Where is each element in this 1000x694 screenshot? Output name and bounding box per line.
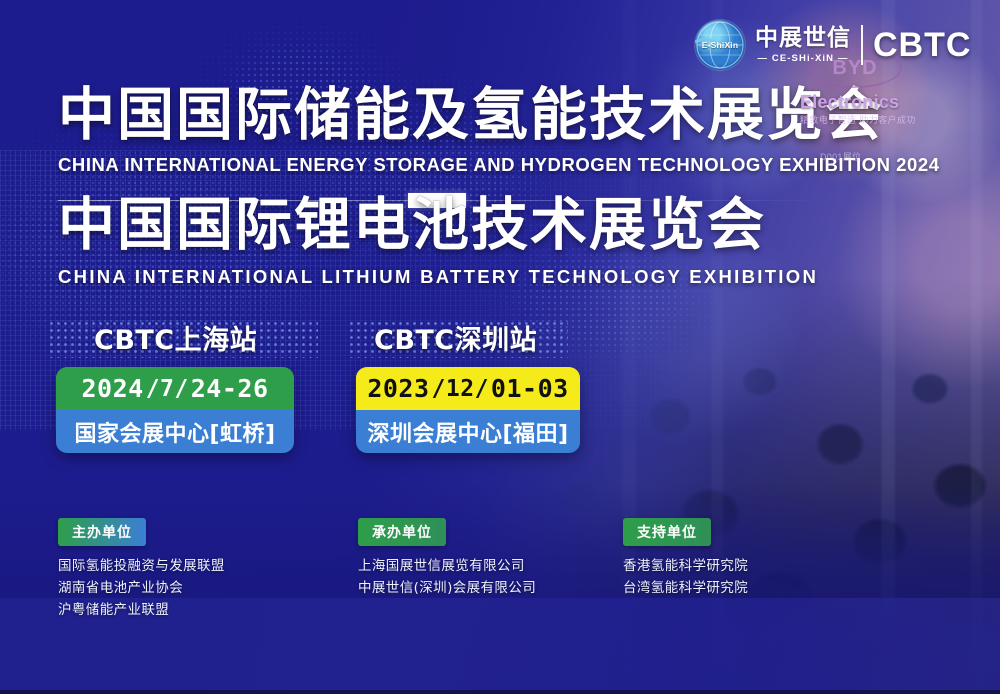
event-month-shenzhen: /12/ xyxy=(430,376,491,402)
event-venue-shenzhen: 深圳会展中心[福田] xyxy=(356,410,580,453)
organization-item: 国际氢能投融资与发展联盟 xyxy=(58,556,358,578)
electronics-tagline-watermark: 精致电子智造 助力客户成功 xyxy=(800,113,916,126)
secondary-title-cn: 中国国际锂电池技术展览会 xyxy=(58,196,818,255)
event-days-shenzhen: 01-03 xyxy=(491,374,569,403)
brand-chinese-name: 中展世信 xyxy=(755,27,851,50)
event-card-shenzhen: CBTC深圳站 2023 /12/ 01-03 深圳会展中心[福田] xyxy=(356,322,580,453)
organization-blocks: 主办单位 国际氢能投融资与发展联盟 湖南省电池产业协会 沪粤储能产业联盟 承办单… xyxy=(58,518,883,622)
organization-badge-supporter: 支持单位 xyxy=(623,518,711,546)
event-year-shanghai: 2024 xyxy=(81,374,143,403)
event-card-heading-shenzhen: CBTC深圳站 xyxy=(356,322,580,360)
e-shixin-globe-icon: E-ShiXin xyxy=(695,20,745,70)
primary-title-en: CHINA INTERNATIONAL ENERGY STORAGE AND H… xyxy=(58,154,940,176)
brand-pinyin: — CE-SHi-XiN — xyxy=(758,54,849,64)
event-card-body-shenzhen: 2023 /12/ 01-03 深圳会展中心[福田] xyxy=(356,367,580,453)
exhibition-banner: BYD Electronics 精致电子智造 助力客户成功 D001展位 E-S… xyxy=(0,0,1000,694)
organization-badge-host: 主办单位 xyxy=(58,518,146,546)
event-card-shanghai: CBTC上海站 2024 /7/ 24-26 国家会展中心[虹桥] xyxy=(56,322,294,453)
header-logo-bar: E-ShiXin 中展世信 — CE-SHi-XiN — CBTC xyxy=(695,20,971,70)
organization-block-supporter: 支持单位 香港氢能科学研究院 台湾氢能科学研究院 xyxy=(623,518,883,622)
event-year-shenzhen: 2023 xyxy=(367,374,429,403)
secondary-title-block: 中国国际锂电池技术展览会 CHINA INTERNATIONAL LITHIUM… xyxy=(58,196,818,288)
organization-item: 中展世信(深圳)会展有限公司 xyxy=(358,578,623,600)
globe-logo-text: E-ShiXin xyxy=(695,40,745,50)
organization-item: 湖南省电池产业协会 xyxy=(58,578,358,600)
organization-block-organizer: 承办单位 上海国展世信展览有限公司 中展世信(深圳)会展有限公司 xyxy=(358,518,623,622)
event-venue-shanghai: 国家会展中心[虹桥] xyxy=(56,410,294,453)
ce-shi-xin-logo: 中展世信 — CE-SHi-XiN — xyxy=(755,27,851,64)
organization-item: 上海国展世信展览有限公司 xyxy=(358,556,623,578)
event-days-shanghai: 24-26 xyxy=(191,374,269,403)
organization-badge-organizer: 承办单位 xyxy=(358,518,446,546)
event-date-shenzhen: 2023 /12/ 01-03 xyxy=(356,367,580,410)
logo-divider xyxy=(861,25,863,65)
organization-item: 沪粤储能产业联盟 xyxy=(58,600,358,622)
organization-list-organizer: 上海国展世信展览有限公司 中展世信(深圳)会展有限公司 xyxy=(358,556,623,600)
event-card-body-shanghai: 2024 /7/ 24-26 国家会展中心[虹桥] xyxy=(56,367,294,453)
organization-block-host: 主办单位 国际氢能投融资与发展联盟 湖南省电池产业协会 沪粤储能产业联盟 xyxy=(58,518,358,622)
event-month-shanghai: /7/ xyxy=(144,376,191,402)
organization-item: 香港氢能科学研究院 xyxy=(623,556,883,578)
bottom-edge-rule xyxy=(0,690,1000,694)
secondary-title-en: CHINA INTERNATIONAL LITHIUM BATTERY TECH… xyxy=(58,266,818,288)
organization-list-supporter: 香港氢能科学研究院 台湾氢能科学研究院 xyxy=(623,556,883,600)
booth-number-watermark: D001展位 xyxy=(820,150,861,163)
event-card-heading-shanghai: CBTC上海站 xyxy=(56,322,294,360)
cbtc-logo: CBTC xyxy=(873,26,971,65)
event-cards: CBTC上海站 2024 /7/ 24-26 国家会展中心[虹桥] CBTC深圳… xyxy=(56,322,580,453)
electronics-watermark: Electronics xyxy=(800,92,899,113)
event-date-shanghai: 2024 /7/ 24-26 xyxy=(56,367,294,410)
organization-item: 台湾氢能科学研究院 xyxy=(623,578,883,600)
organization-list-host: 国际氢能投融资与发展联盟 湖南省电池产业协会 沪粤储能产业联盟 xyxy=(58,556,358,622)
